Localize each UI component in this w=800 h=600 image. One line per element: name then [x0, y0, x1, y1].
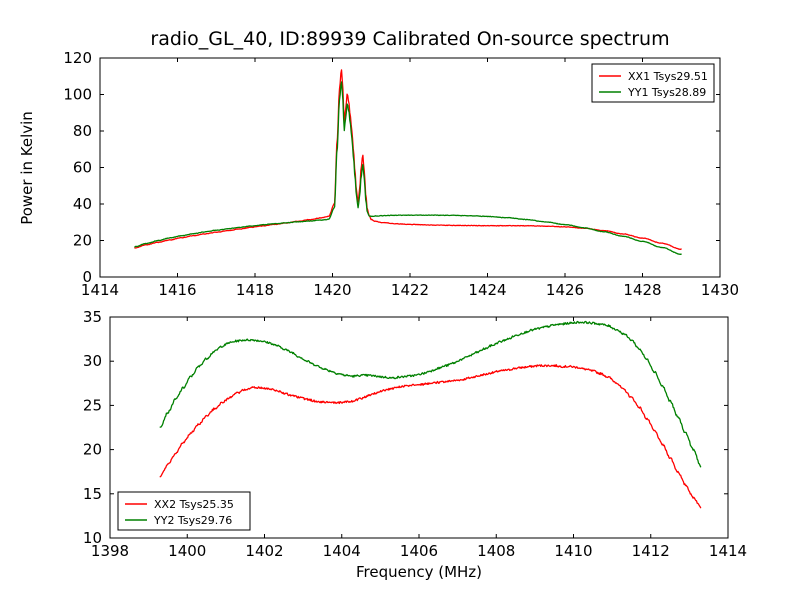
- y-ticklabel-top-panel-2: 40: [73, 195, 92, 213]
- y-ticklabel-top-panel-4: 80: [73, 122, 92, 140]
- x-ticklabel-bottom-panel-1: 1400: [168, 542, 206, 560]
- y-ticklabel-top-panel-3: 60: [73, 159, 92, 177]
- x-ticklabel-bottom-panel-4: 1406: [400, 542, 438, 560]
- x-ticklabel-bottom-panel-3: 1404: [323, 542, 361, 560]
- figure-title: radio_GL_40, ID:89939 Calibrated On-sour…: [150, 28, 669, 50]
- y-ticklabel-bottom-panel-5: 35: [83, 308, 102, 326]
- legend-label-top-panel-1: YY1 Tsys28.89: [627, 86, 706, 99]
- x-ticklabel-top-panel-3: 1420: [313, 281, 351, 299]
- y-ticklabel-top-panel-1: 20: [73, 232, 92, 250]
- x-ticklabel-bottom-panel-2: 1402: [245, 542, 283, 560]
- legend-label-bottom-panel-0: XX2 Tsys25.35: [154, 498, 234, 511]
- x-ticklabel-bottom-panel-8: 1414: [709, 542, 747, 560]
- x-ticklabel-top-panel-8: 1430: [701, 281, 739, 299]
- x-ticklabel-bottom-panel-6: 1410: [554, 542, 592, 560]
- legend-label-top-panel-0: XX1 Tsys29.51: [628, 70, 708, 83]
- x-ticklabel-top-panel-7: 1428: [623, 281, 661, 299]
- y-ticklabel-top-panel-5: 100: [63, 86, 92, 104]
- y-ticklabel-bottom-panel-1: 15: [83, 485, 102, 503]
- y-ticklabel-bottom-panel-2: 20: [83, 441, 102, 459]
- x-ticklabel-bottom-panel-5: 1408: [477, 542, 515, 560]
- series-line-bottom-panel-0: [160, 365, 700, 508]
- y-ticklabel-top-panel-0: 0: [82, 268, 92, 286]
- legend-top-panel: XX1 Tsys29.51YY1 Tsys28.89: [592, 64, 714, 102]
- x-ticklabel-top-panel-1: 1416: [158, 281, 196, 299]
- x-ticklabel-top-panel-4: 1422: [391, 281, 429, 299]
- legend-bottom-panel: XX2 Tsys25.35YY2 Tsys29.76: [118, 492, 250, 530]
- x-ticklabel-top-panel-6: 1426: [546, 281, 584, 299]
- legend-label-bottom-panel-1: YY2 Tsys29.76: [153, 514, 232, 527]
- series-line-top-panel-1: [135, 82, 681, 254]
- y-ticklabel-top-panel-6: 120: [63, 49, 92, 67]
- y-ticklabel-bottom-panel-0: 10: [83, 529, 102, 547]
- x-axis-label: Frequency (MHz): [356, 563, 482, 581]
- figure-canvas: 1414141614181420142214241426142814300204…: [0, 0, 800, 600]
- panel-top-panel: 1414141614181420142214241426142814300204…: [63, 49, 739, 299]
- x-ticklabel-top-panel-2: 1418: [236, 281, 274, 299]
- series-line-bottom-panel-1: [160, 321, 700, 466]
- y-ticklabel-bottom-panel-3: 25: [83, 396, 102, 414]
- y-ticklabel-bottom-panel-4: 30: [83, 352, 102, 370]
- spectrum-plot: 1414141614181420142214241426142814300204…: [0, 0, 800, 600]
- x-ticklabel-top-panel-5: 1424: [468, 281, 506, 299]
- panel-bottom-panel: 1398140014021404140614081410141214141015…: [83, 308, 747, 560]
- x-ticklabel-bottom-panel-7: 1412: [632, 542, 670, 560]
- y-axis-label: Power in Kelvin: [18, 111, 36, 225]
